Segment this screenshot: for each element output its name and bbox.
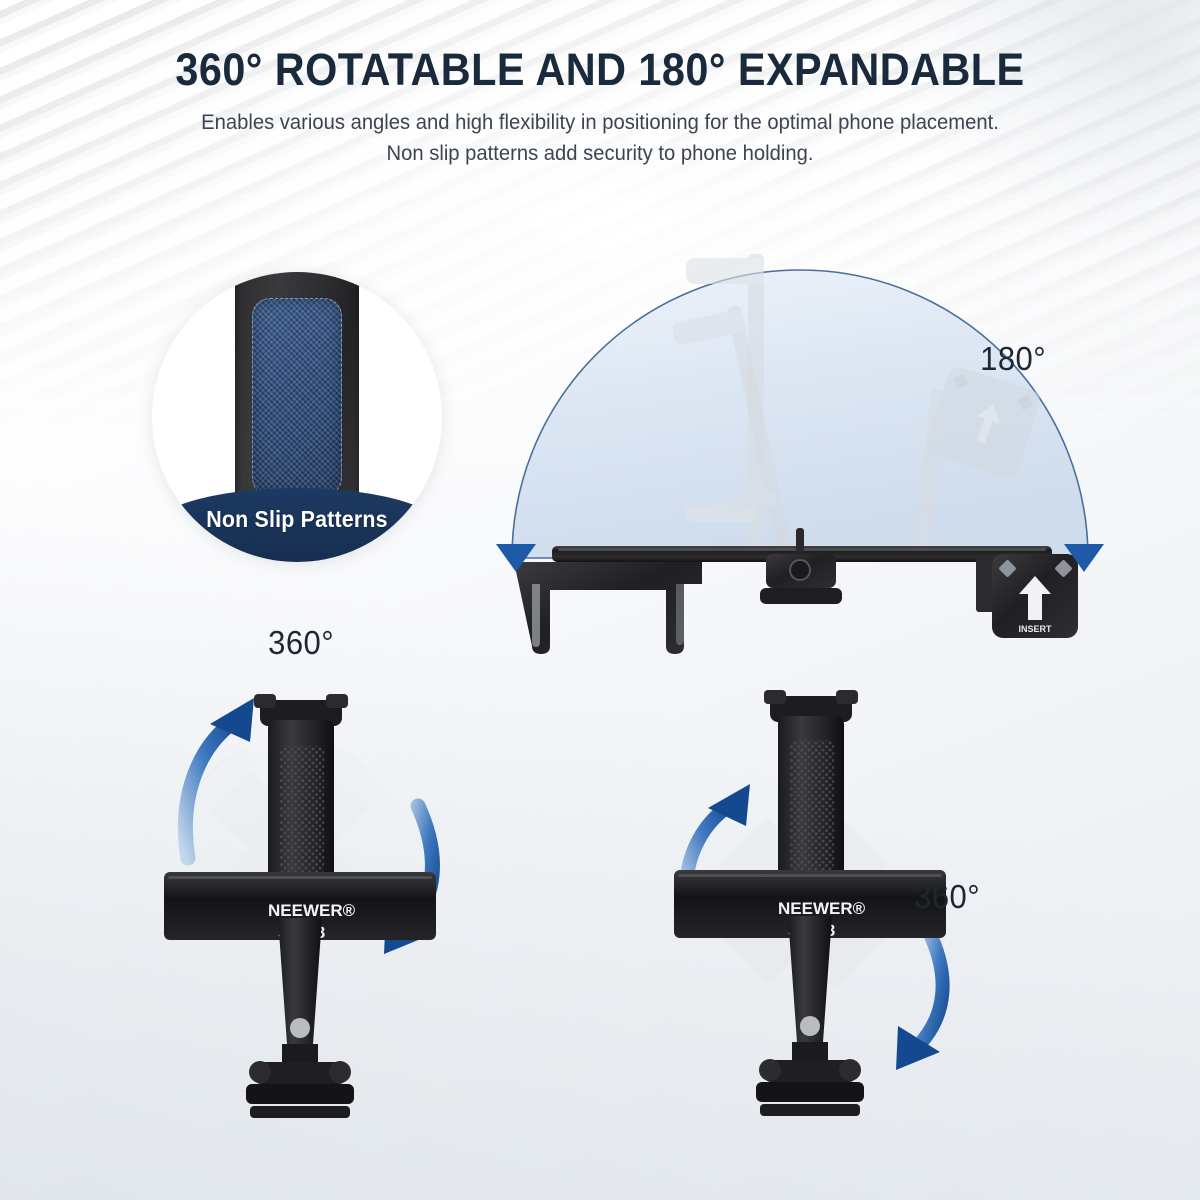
clamp-bracket — [514, 562, 702, 654]
expandable-180-illustration: INSERT — [480, 228, 1120, 648]
angle-label-360-left: 360° — [268, 624, 334, 662]
page-title: 360° ROTATABLE AND 180° EXPANDABLE — [48, 46, 1152, 93]
insert-plate-label: INSERT — [1018, 624, 1052, 634]
brand-label-right: NEEWER® — [778, 899, 866, 918]
angle-label-180: 180° — [980, 340, 1046, 378]
infographic-canvas: 360° ROTATABLE AND 180° EXPANDABLE Enabl… — [0, 0, 1200, 1200]
rotation-arrow-down-right — [896, 930, 943, 1070]
rotation-360-right-diagram: NEEWER® SP-08 360° — [660, 678, 1000, 1198]
non-slip-banner-label: Non Slip Patterns — [157, 506, 438, 533]
subtitle-line-1: Enables various angles and high flexibil… — [36, 107, 1164, 138]
page-subtitle: Enables various angles and high flexibil… — [36, 107, 1164, 168]
non-slip-banner: Non Slip Patterns — [152, 488, 442, 562]
brand-label-left: NEEWER® — [268, 901, 356, 920]
non-slip-pad — [252, 298, 342, 496]
rotation-360-left-diagram: NEEWER® SP-08 360° — [150, 628, 490, 1188]
header: 360° ROTATABLE AND 180° EXPANDABLE Enabl… — [0, 46, 1200, 168]
angle-label-360-right: 360° — [914, 878, 980, 916]
quick-release-plate: INSERT — [976, 554, 1078, 638]
rotation-360-left-illustration: NEEWER® SP-08 — [150, 628, 490, 1188]
rotation-360-right-illustration: NEEWER® SP-08 — [660, 678, 1000, 1198]
subtitle-line-2: Non slip patterns add security to phone … — [36, 138, 1164, 169]
stand-stem-left — [246, 918, 354, 1118]
expandable-180-diagram: INSERT 180° — [480, 228, 1120, 648]
non-slip-detail-inset: Non Slip Patterns — [152, 272, 442, 562]
